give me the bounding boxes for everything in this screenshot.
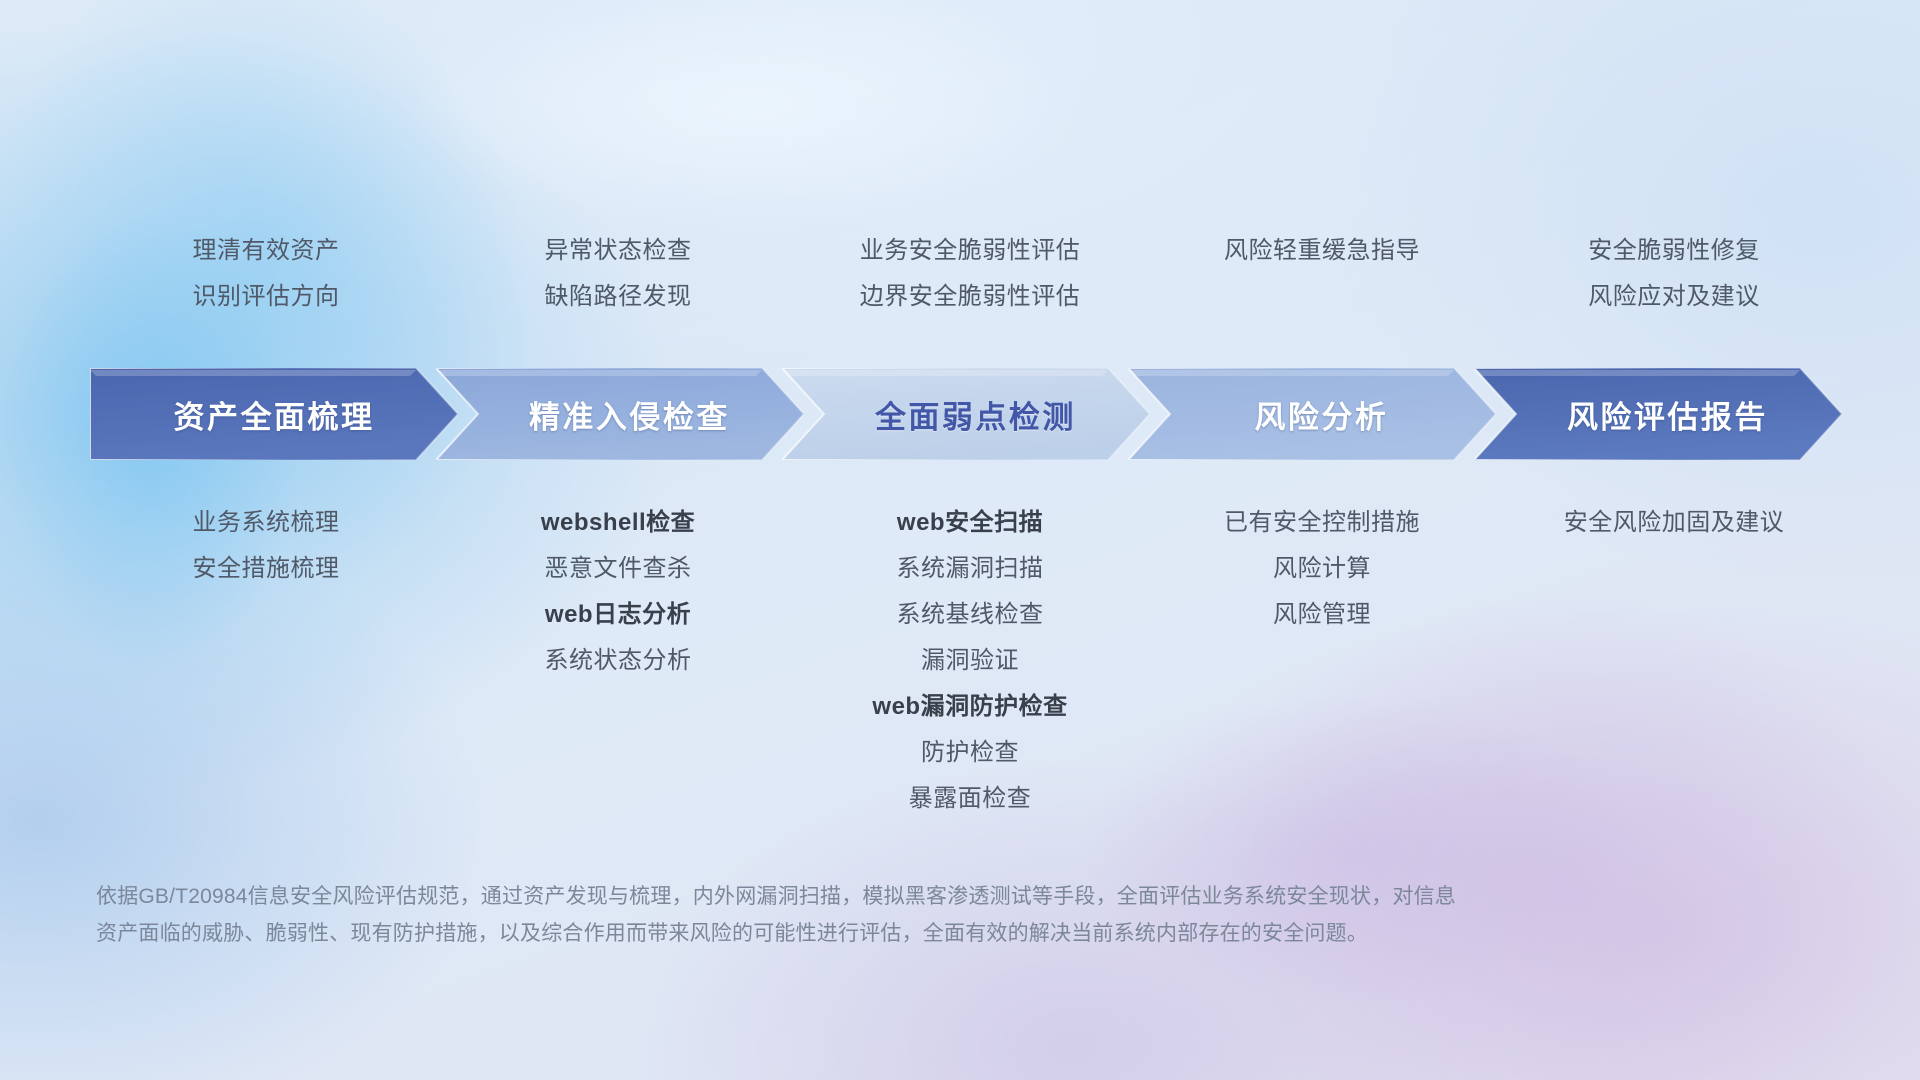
note-item: 系统状态分析: [442, 638, 794, 684]
stage-label: 风险分析: [1254, 392, 1388, 437]
note-item: 防护检查: [794, 730, 1146, 776]
note-item: webshell检查: [442, 500, 794, 546]
footer-description: 依据GB/T20984信息安全风险评估规范，通过资产发现与梳理，内外网漏洞扫描，…: [96, 878, 1626, 952]
stage-arrow-asset-inventory[interactable]: 资产全面梳理: [90, 368, 458, 460]
stage-label: 全面弱点检测: [875, 392, 1076, 437]
note-item: 漏洞验证: [794, 638, 1146, 684]
bottom-notes-asset-inventory: 业务系统梳理安全措施梳理: [90, 500, 442, 822]
note-item: 风险轻重缓急指导: [1146, 228, 1498, 274]
bottom-notes-intrusion-check: webshell检查恶意文件查杀web日志分析系统状态分析: [442, 500, 794, 822]
bottom-notes-risk-analysis: 已有安全控制措施风险计算风险管理: [1146, 500, 1498, 822]
note-item: 恶意文件查杀: [442, 546, 794, 592]
footer-line-1: 依据GB/T20984信息安全风险评估规范，通过资产发现与梳理，内外网漏洞扫描，…: [96, 878, 1626, 915]
stage-arrow-risk-analysis[interactable]: 风险分析: [1128, 368, 1496, 460]
note-item: web漏洞防护检查: [794, 684, 1146, 730]
top-notes-row: 理清有效资产识别评估方向 异常状态检查缺陷路径发现 业务安全脆弱性评估边界安全脆…: [90, 228, 1850, 320]
note-item: 系统基线检查: [794, 592, 1146, 638]
note-item: 安全措施梳理: [90, 546, 442, 592]
note-item: 已有安全控制措施: [1146, 500, 1498, 546]
process-arrow-banner: 资产全面梳理 精准入侵检查: [90, 368, 1842, 460]
note-item: 安全风险加固及建议: [1498, 500, 1850, 546]
note-item: 风险应对及建议: [1498, 274, 1850, 320]
note-item: 缺陷路径发现: [442, 274, 794, 320]
note-item: web安全扫描: [794, 500, 1146, 546]
note-item: 风险计算: [1146, 546, 1498, 592]
top-notes-weakness-detection: 业务安全脆弱性评估边界安全脆弱性评估: [794, 228, 1146, 320]
note-item: 业务系统梳理: [90, 500, 442, 546]
note-item: web日志分析: [442, 592, 794, 638]
note-item: 识别评估方向: [90, 274, 442, 320]
top-notes-intrusion-check: 异常状态检查缺陷路径发现: [442, 228, 794, 320]
stage-label: 资产全面梳理: [174, 392, 375, 437]
stage-label: 精准入侵检查: [529, 392, 730, 437]
note-item: 暴露面检查: [794, 776, 1146, 822]
note-item: 系统漏洞扫描: [794, 546, 1146, 592]
note-item: 业务安全脆弱性评估: [794, 228, 1146, 274]
footer-line-2: 资产面临的威胁、脆弱性、现有防护措施，以及综合作用而带来风险的可能性进行评估，全…: [96, 915, 1626, 952]
stage-arrow-weakness-detection[interactable]: 全面弱点检测: [782, 368, 1150, 460]
note-item: 边界安全脆弱性评估: [794, 274, 1146, 320]
stage-arrow-intrusion-check[interactable]: 精准入侵检查: [436, 368, 804, 460]
note-item: 风险管理: [1146, 592, 1498, 638]
stage-label: 风险评估报告: [1567, 392, 1768, 437]
note-item: 异常状态检查: [442, 228, 794, 274]
stage-arrow-assessment-report[interactable]: 风险评估报告: [1474, 368, 1842, 460]
bottom-notes-weakness-detection: web安全扫描系统漏洞扫描系统基线检查漏洞验证web漏洞防护检查防护检查暴露面检…: [794, 500, 1146, 822]
bottom-notes-assessment-report: 安全风险加固及建议: [1498, 500, 1850, 822]
top-notes-risk-analysis: 风险轻重缓急指导: [1146, 228, 1498, 320]
infographic-canvas: 理清有效资产识别评估方向 异常状态检查缺陷路径发现 业务安全脆弱性评估边界安全脆…: [0, 0, 1920, 1080]
top-notes-asset-inventory: 理清有效资产识别评估方向: [90, 228, 442, 320]
note-item: 理清有效资产: [90, 228, 442, 274]
note-item: 安全脆弱性修复: [1498, 228, 1850, 274]
top-notes-assessment-report: 安全脆弱性修复风险应对及建议: [1498, 228, 1850, 320]
bottom-notes-row: 业务系统梳理安全措施梳理 webshell检查恶意文件查杀web日志分析系统状态…: [90, 500, 1850, 822]
